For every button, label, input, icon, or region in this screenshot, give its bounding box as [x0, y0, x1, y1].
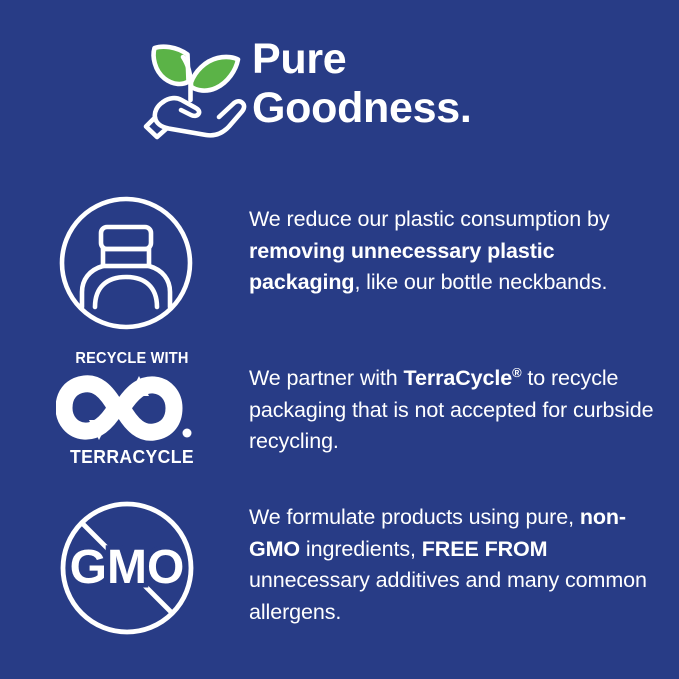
header: Pure Goodness. [0, 0, 679, 170]
feature-text-terracycle: We partner with TerraCycle® to recycle p… [249, 363, 665, 458]
terracycle-logo: RECYCLE WITH TERRACYCLE [56, 350, 208, 478]
feature-row-plastic: We reduce our plastic consumption by rem… [0, 190, 679, 338]
no-gmo-icon-label: GMO [70, 541, 185, 594]
hand-holding-sprout-icon [143, 36, 248, 140]
feature-text-plastic: We reduce our plastic consumption by rem… [249, 204, 665, 299]
terracycle-logo-bottom-text: TERRACYCLE [60, 446, 204, 468]
infinity-arrows-recycle-icon [56, 372, 208, 444]
feature-row-gmo: GMO We formulate products using pure, no… [0, 492, 679, 652]
pure-goodness-infographic: Pure Goodness. We reduce our plastic con… [0, 0, 679, 679]
terracycle-logo-top-text: RECYCLE WITH [61, 350, 204, 368]
page-title: Pure Goodness. [252, 35, 652, 133]
page-title-line-2: Goodness. [252, 84, 652, 133]
feature-row-terracycle: RECYCLE WITH TERRACYCLE [0, 348, 679, 478]
no-gmo-icon: GMO [56, 496, 202, 642]
bottle-neckband-circle-icon [56, 194, 202, 336]
feature-text-gmo: We formulate products using pure, non-GM… [249, 502, 665, 628]
page-title-line-1: Pure [252, 35, 652, 84]
